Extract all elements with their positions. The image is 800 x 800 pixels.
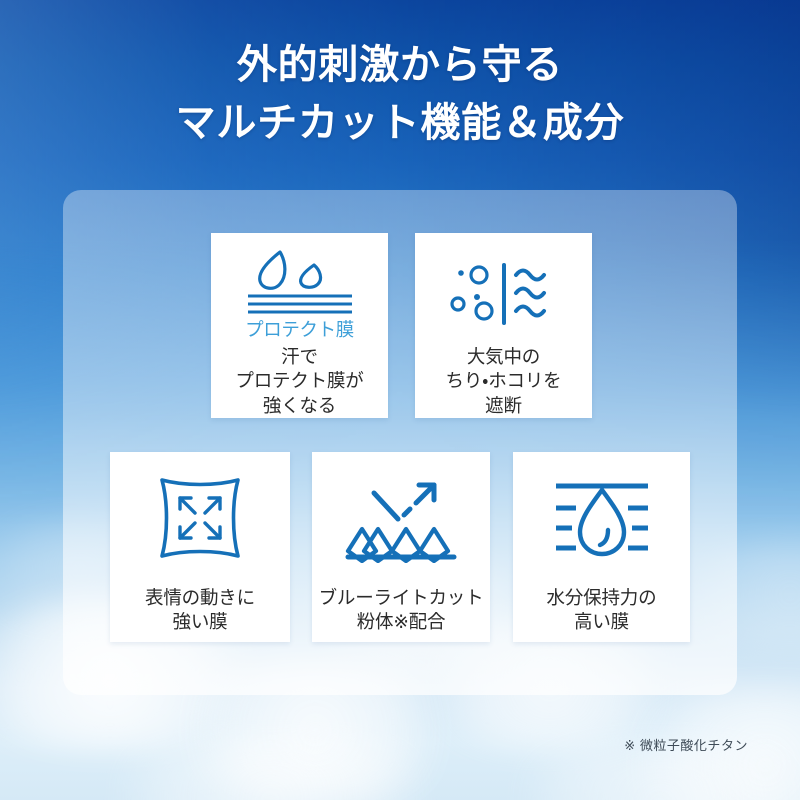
moisture-retention-caption: 水分保持力の 高い膜 [547, 586, 657, 635]
water-droplet-hydration-icon [546, 476, 658, 564]
blue-light-cut-caption: ブルーライトカット 粉体※配合 [319, 586, 484, 635]
flexible-film-caption: 表情の動きに 強い膜 [145, 586, 255, 635]
protect-film-caption: 汗で プロテクト膜が 強くなる [235, 345, 363, 418]
protect-film-sub-label: プロテクト膜 [245, 319, 354, 341]
stretch-arrows-square-icon [154, 472, 246, 564]
feature-card-blue-light-cut: ブルーライトカット 粉体※配合 [312, 452, 490, 642]
feature-card-dust-block: 大気中の ちり・ホコリを 遮断 [415, 233, 592, 418]
footnote-text: ※ 微粒子酸化チタン [624, 735, 748, 754]
page-title-line-1: 外的刺激から守る [0, 36, 800, 94]
infographic-stage: 外的刺激から守る マルチカット機能＆成分 プロテクト膜 汗で プロテクト膜が 強… [0, 0, 800, 800]
feature-card-moisture-retention: 水分保持力の 高い膜 [513, 452, 690, 642]
sweat-drops-over-film-icon [244, 246, 356, 317]
page-title: 外的刺激から守る マルチカット機能＆成分 [0, 36, 800, 152]
particles-blocked-by-barrier-icon [450, 259, 558, 329]
feature-card-flexible-film: 表情の動きに 強い膜 [110, 452, 290, 642]
light-reflecting-powder-icon [342, 476, 460, 564]
dust-block-caption: 大気中の ちり・ホコリを 遮断 [446, 345, 562, 418]
feature-card-protect-film: プロテクト膜 汗で プロテクト膜が 強くなる [211, 233, 388, 418]
page-title-line-2: マルチカット機能＆成分 [0, 94, 800, 152]
